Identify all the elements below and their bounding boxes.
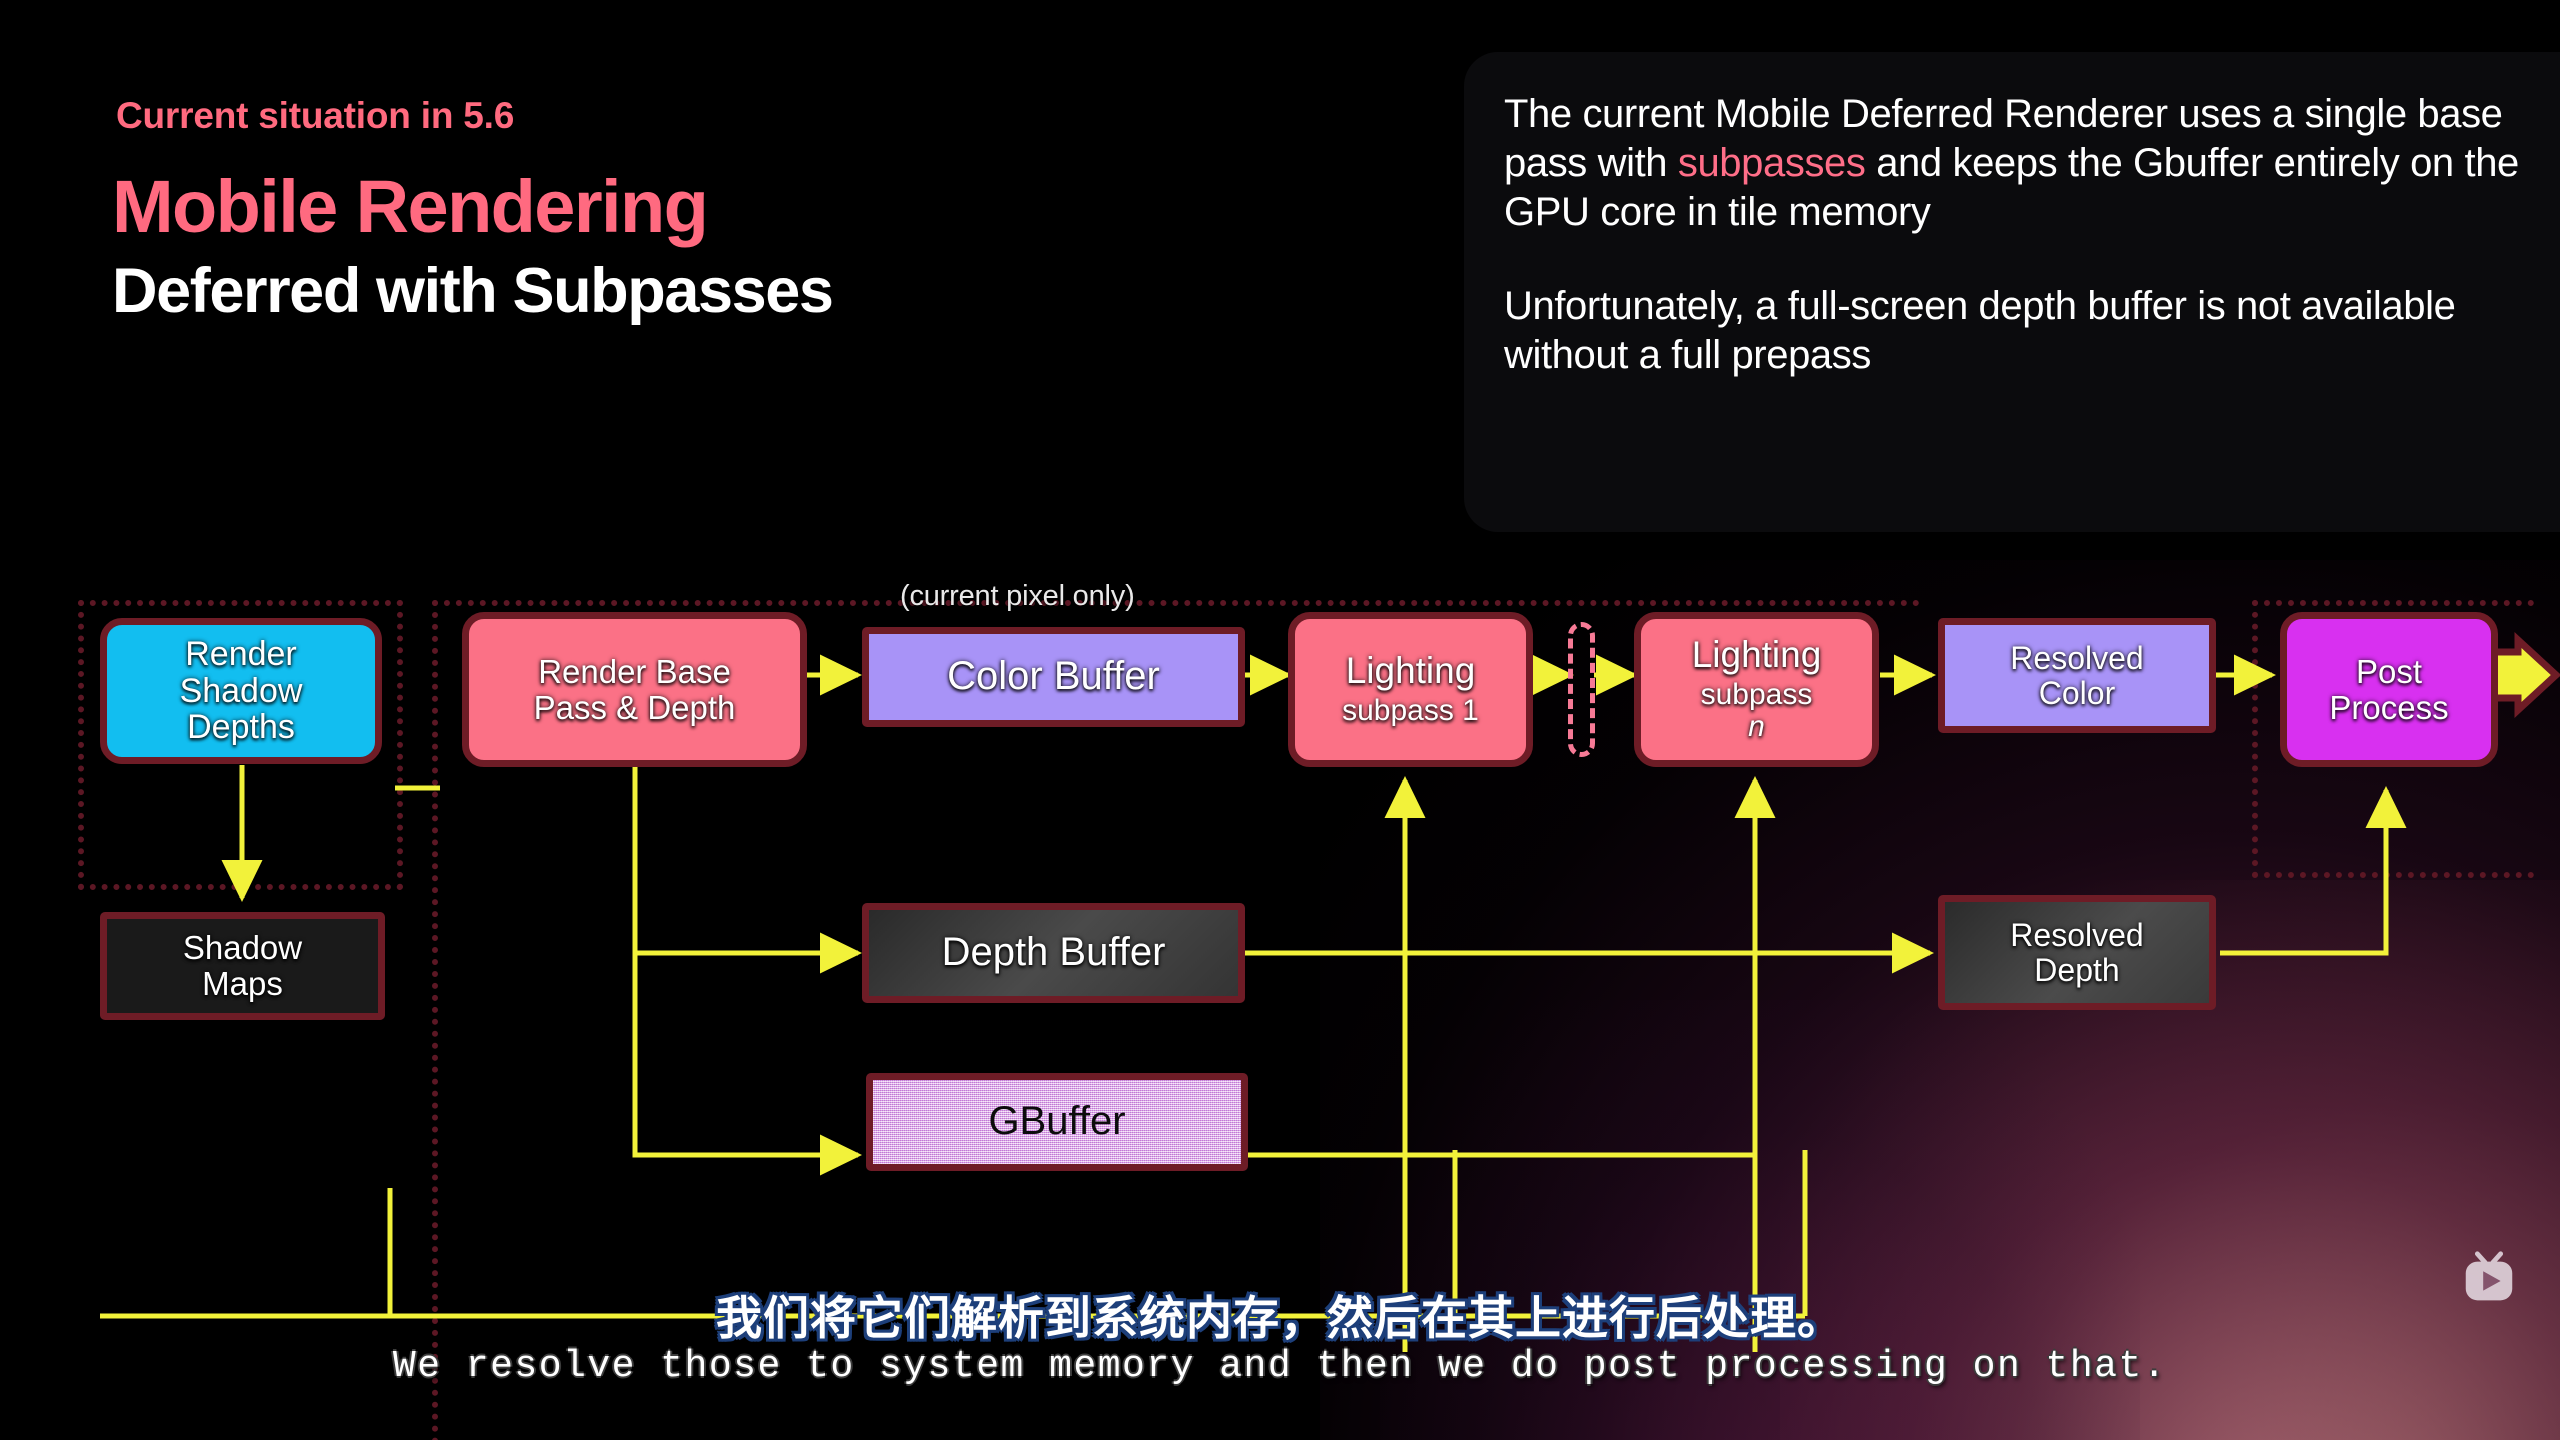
- subtitle-english: We resolve those to system memory and th…: [0, 1345, 2560, 1388]
- note-panel: The current Mobile Deferred Renderer use…: [1464, 52, 2560, 532]
- subtitle-chinese: 我们将它们解析到系统内存，然后在其上进行后处理。: [0, 1282, 2560, 1348]
- slide-kicker: Current situation in 5.6: [116, 95, 514, 137]
- slide-canvas: Current situation in 5.6 Mobile Renderin…: [0, 0, 2560, 1440]
- slide-title-secondary: Deferred with Subpasses: [112, 260, 833, 323]
- note-paragraph-1: The current Mobile Deferred Renderer use…: [1504, 90, 2520, 236]
- note-paragraph-gap: [1504, 236, 2520, 282]
- note-p1-highlight: subpasses: [1678, 141, 1866, 185]
- note-paragraph-2: Unfortunately, a full-screen depth buffe…: [1504, 282, 2520, 380]
- tv-play-icon: [2458, 1248, 2520, 1310]
- slide-title-primary: Mobile Rendering: [112, 170, 707, 244]
